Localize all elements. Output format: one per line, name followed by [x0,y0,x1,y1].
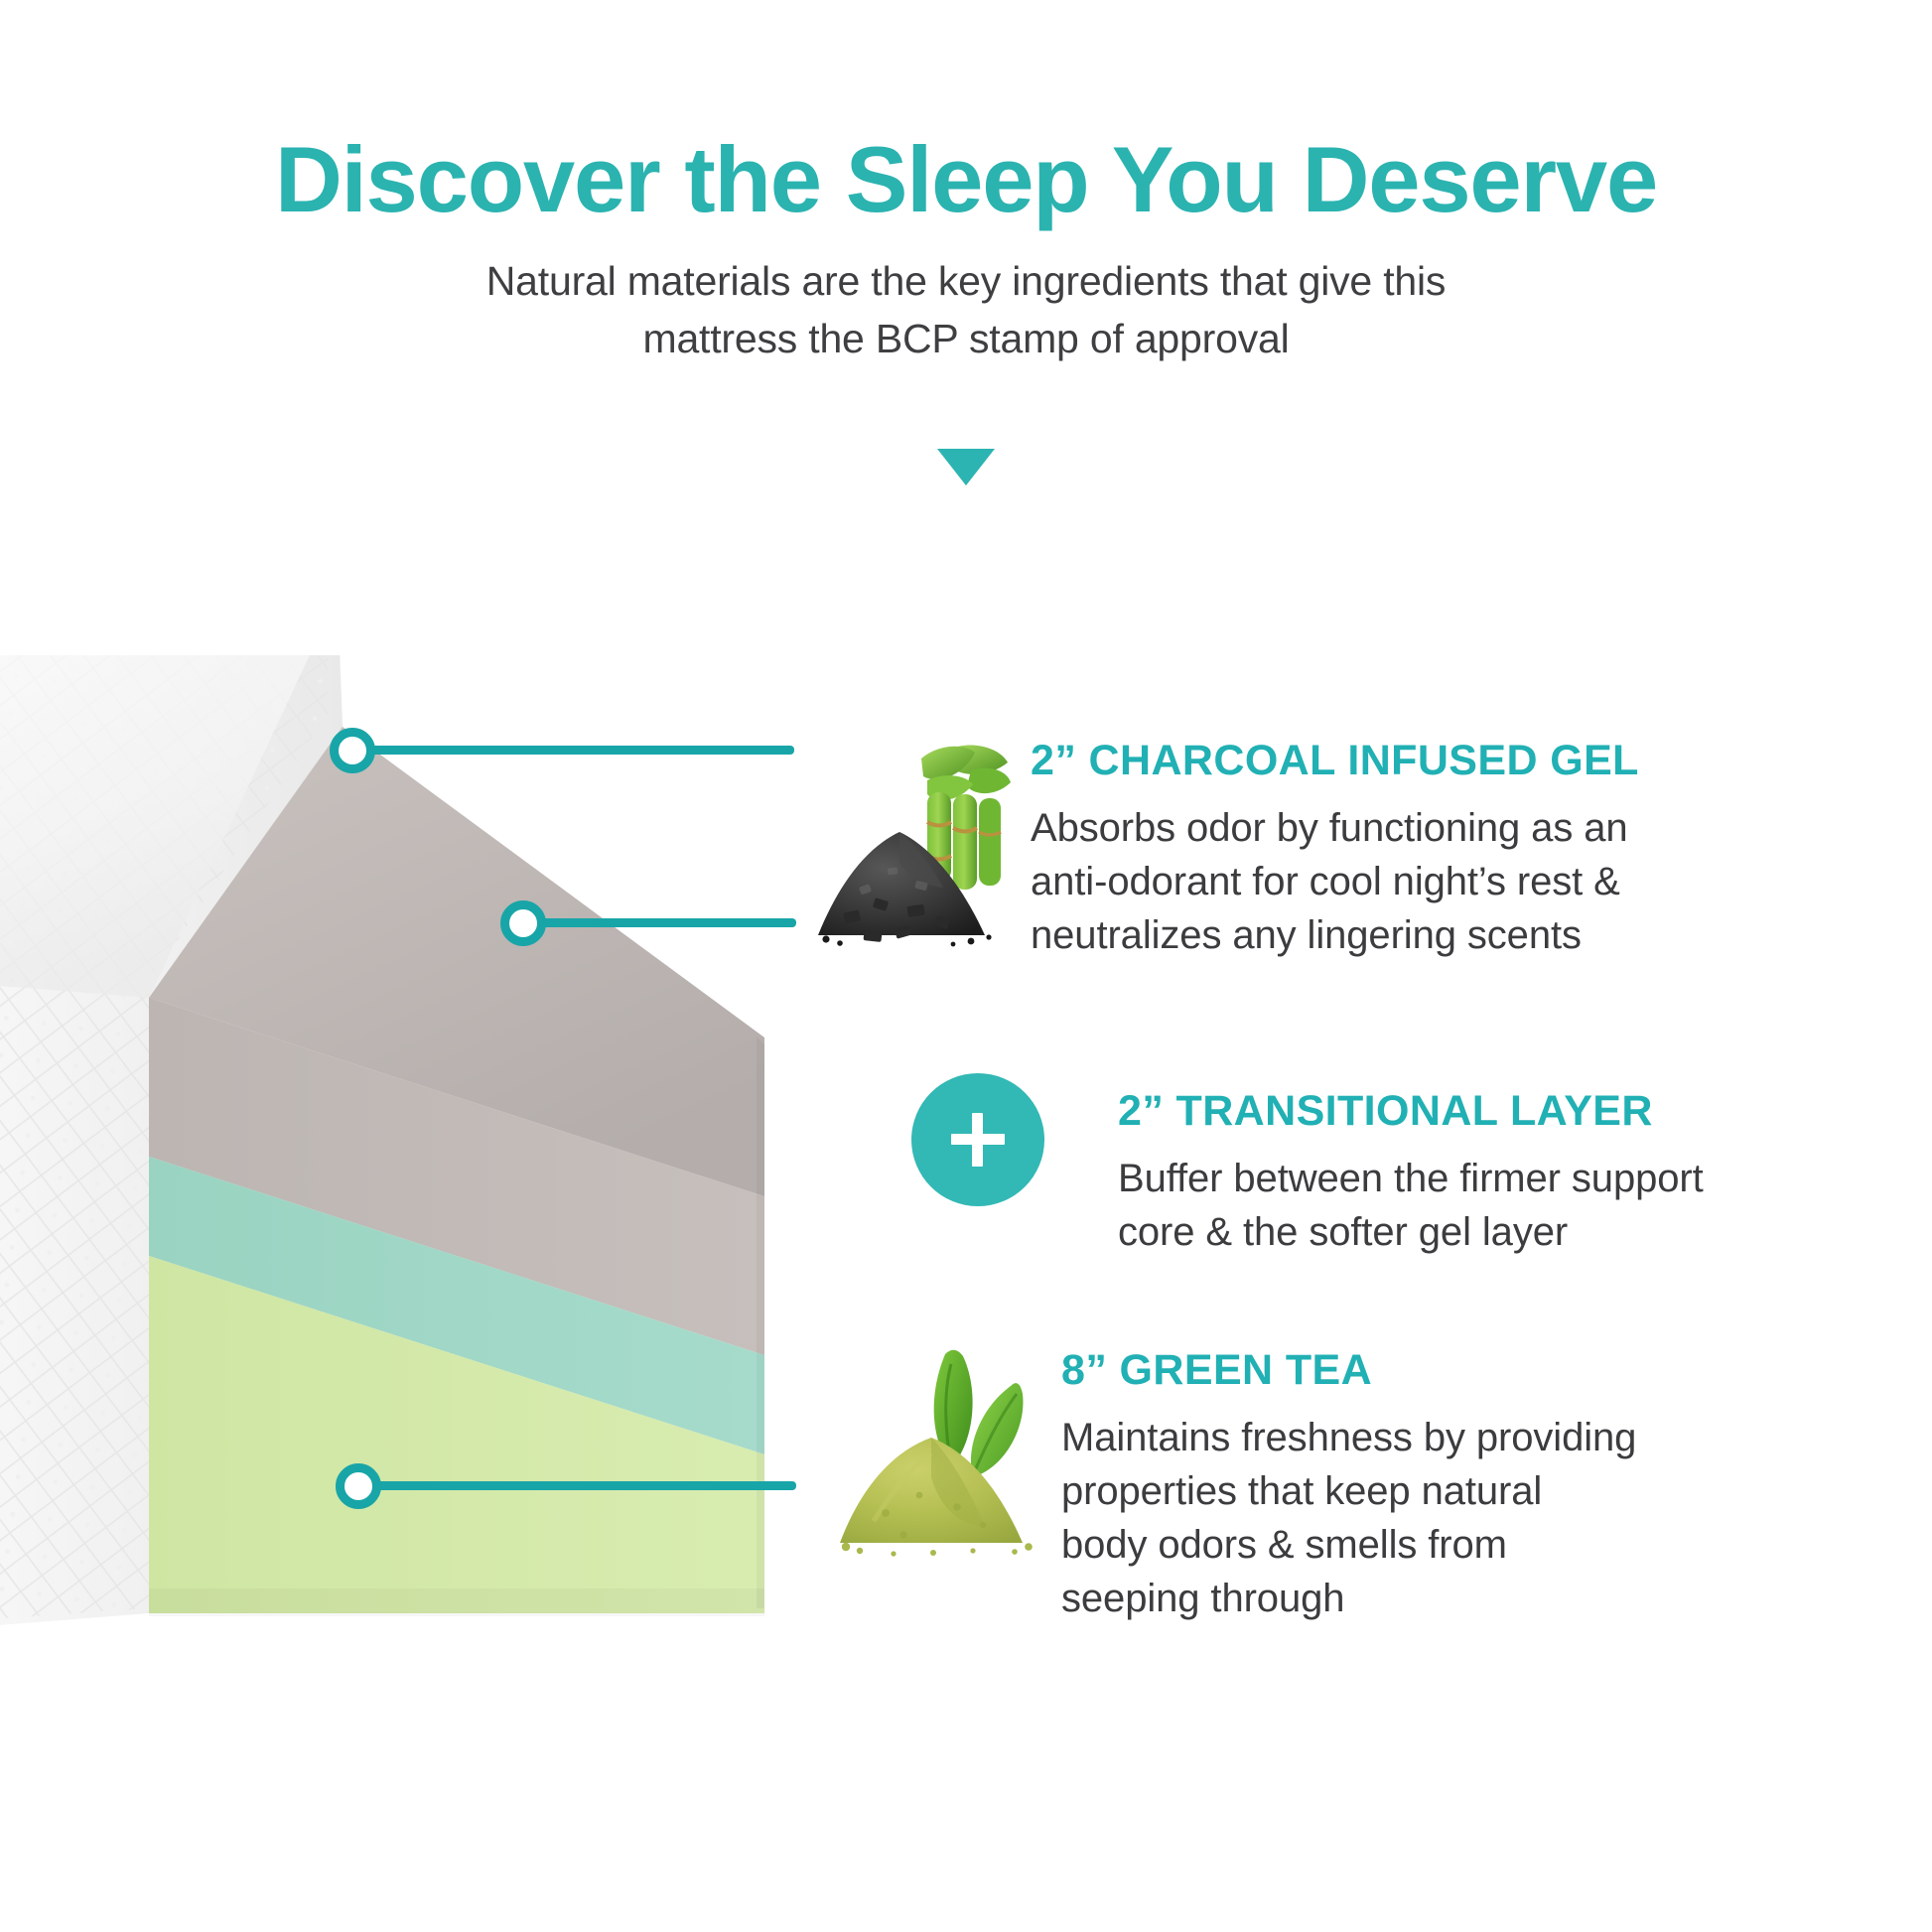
feature-transitional-title: 2” TRANSITIONAL LAYER [1118,1087,1864,1136]
feature-green-tea-text: 8” GREEN TEA Maintains freshness by prov… [1061,1346,1886,1625]
chevron-down-triangle-icon [937,449,995,485]
feature-green-tea-title: 8” GREEN TEA [1061,1346,1886,1395]
feature-charcoal-title: 2” CHARCOAL INFUSED GEL [1031,737,1857,785]
feature-charcoal-text: 2” CHARCOAL INFUSED GEL Absorbs odor by … [1031,737,1857,962]
feature-green-tea-body-line-2: properties that keep natural [1061,1469,1542,1513]
arrow-down-container [0,449,1932,485]
plus-badge-media [911,1073,1044,1206]
feature-charcoal-body: Absorbs odor by functioning as an anti-o… [1031,801,1857,962]
feature-transitional-layer: 2” TRANSITIONAL LAYER Buffer between the… [911,1073,1864,1259]
feature-transitional-body: Buffer between the firmer support core &… [1118,1152,1864,1259]
feature-green-tea: 8” GREEN TEA Maintains freshness by prov… [834,1346,1886,1625]
feature-transitional-text: 2” TRANSITIONAL LAYER Buffer between the… [1118,1087,1864,1259]
green-tea-media [834,1346,1047,1580]
feature-charcoal-infused-gel: 2” CHARCOAL INFUSED GEL Absorbs odor by … [804,737,1857,965]
bamboo-leaves [921,745,1011,800]
feature-green-tea-body-line-1: Maintains freshness by providing [1061,1416,1636,1459]
charcoal-bamboo-media [804,737,1013,965]
infographic-canvas: Discover the Sleep You Deserve Natural m… [0,0,1932,1932]
feature-charcoal-body-line-3: neutralizes any lingering scents [1031,913,1582,957]
page-subtitle-line-1: Natural materials are the key ingredient… [390,252,1542,310]
feature-green-tea-body-line-3: body odors & smells from [1061,1523,1507,1567]
feature-transitional-body-line-1: Buffer between the firmer support [1118,1157,1704,1200]
feature-transitional-body-line-2: core & the softer gel layer [1118,1210,1568,1254]
green-tea-powder-leaf-icon [834,1346,1047,1580]
feature-charcoal-body-line-1: Absorbs odor by functioning as an [1031,806,1628,850]
page-subtitle: Natural materials are the key ingredient… [390,252,1542,367]
plus-circle-icon [911,1073,1044,1206]
feature-green-tea-body-line-4: seeping through [1061,1577,1344,1620]
feature-charcoal-body-line-2: anti-odorant for cool night’s rest & [1031,860,1620,903]
charcoal-bamboo-icon [804,737,1013,965]
mattress-cutaway-diagram [0,655,814,1648]
page-title: Discover the Sleep You Deserve [0,131,1932,228]
page-subtitle-line-2: mattress the BCP stamp of approval [390,310,1542,367]
feature-green-tea-body: Maintains freshness by providing propert… [1061,1411,1886,1625]
header-block: Discover the Sleep You Deserve Natural m… [0,131,1932,367]
